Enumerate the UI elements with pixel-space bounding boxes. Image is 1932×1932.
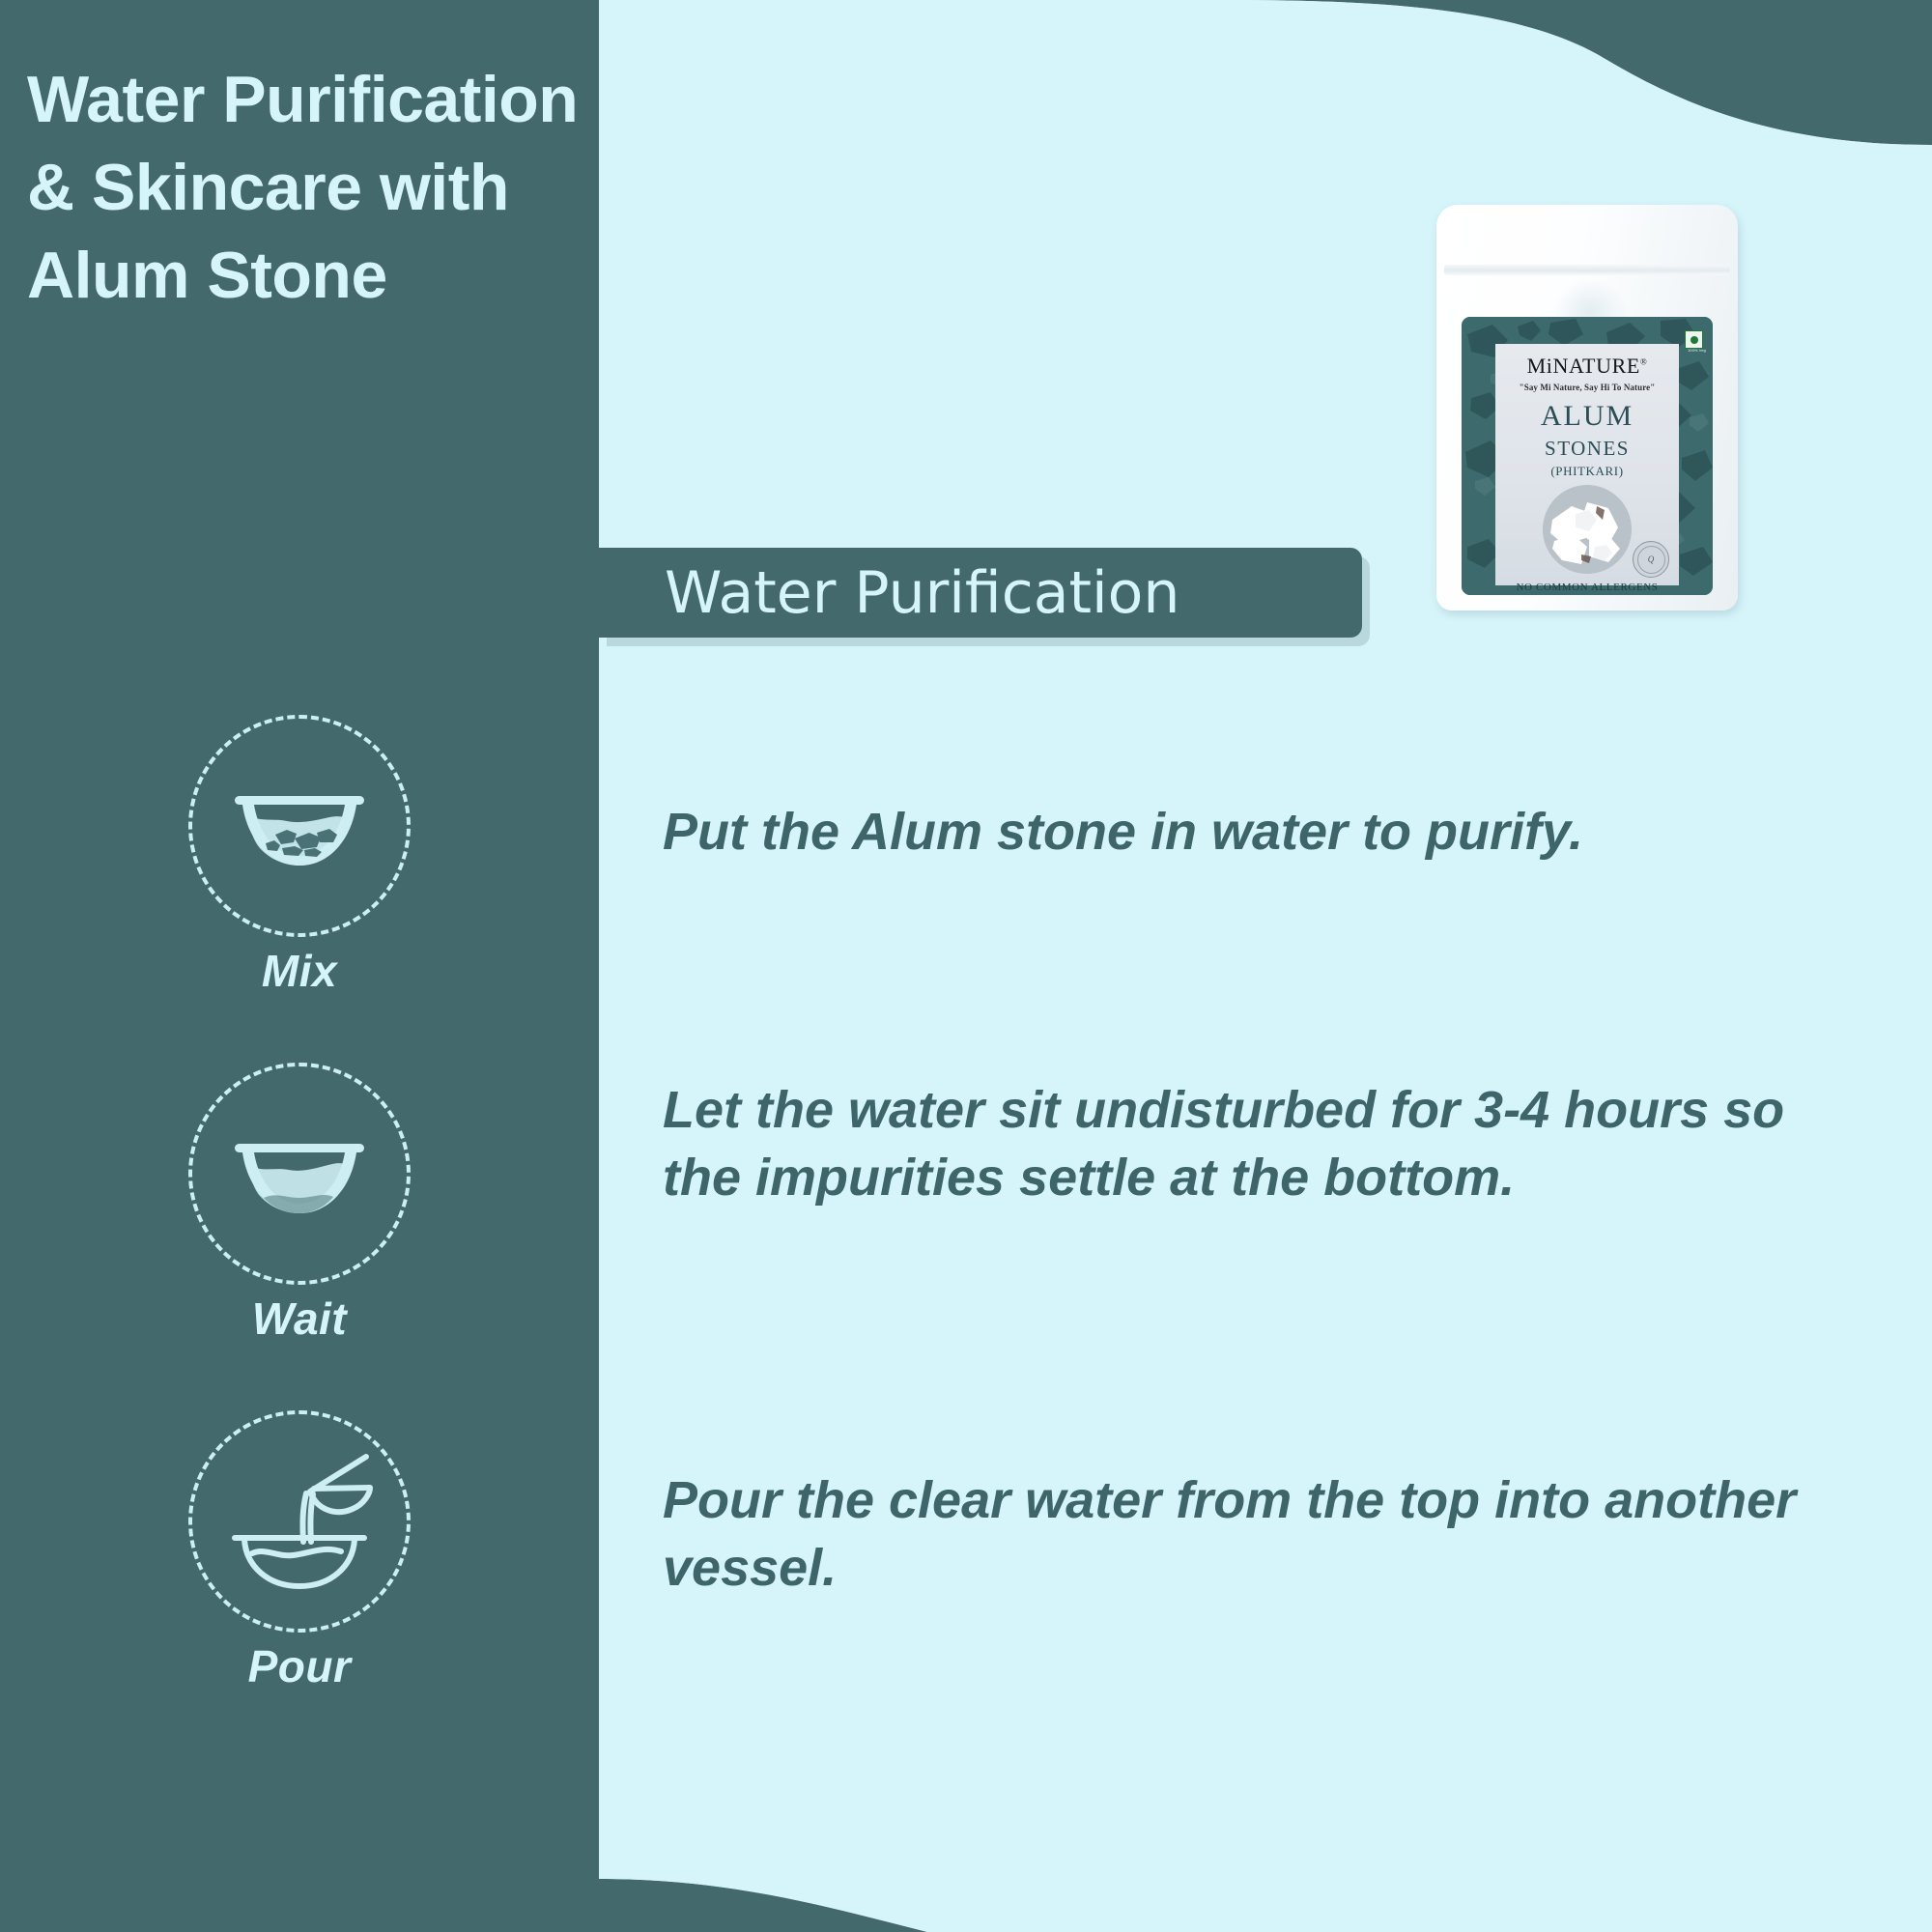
product-package-image: 100% Veg MiNATURE® "Say Mi Nature, Say H… [1436, 205, 1738, 611]
instruction-text-1: Put the Alum stone in water to purify. [663, 798, 1803, 866]
pouch-zipper [1444, 265, 1730, 275]
section-banner: Water Purification [599, 548, 1362, 638]
product-label: 100% Veg MiNATURE® "Say Mi Nature, Say H… [1462, 317, 1713, 595]
bowl-with-stones-icon [188, 715, 411, 937]
veg-mark-caption: 100% Veg [1688, 348, 1706, 353]
section-banner-label: Water Purification [665, 559, 1179, 627]
step-label: Wait [0, 1293, 599, 1345]
page-title: Water Purification & Skincare with Alum … [27, 56, 587, 320]
instruction-text-3: Pour the clear water from the top into a… [663, 1466, 1803, 1602]
quality-seal-inner: Q [1637, 546, 1665, 574]
alum-stones-photo [1543, 485, 1632, 574]
allergen-note: NO COMMON ALLERGENS [1495, 582, 1679, 593]
product-alt-name: (PHITKARI) [1495, 464, 1679, 479]
brand-tagline: "Say Mi Nature, Say Hi To Nature" [1495, 383, 1679, 392]
product-name: ALUM [1495, 400, 1679, 433]
step-mix: Mix [0, 715, 599, 1053]
step-label: Pour [0, 1640, 599, 1692]
vegetarian-mark-icon [1685, 330, 1703, 349]
instruction-text-2: Let the water sit undisturbed for 3-4 ho… [663, 1076, 1803, 1211]
registered-mark-icon: ® [1640, 357, 1647, 367]
step-label: Mix [0, 945, 599, 997]
brand-name: MiNATURE® [1495, 354, 1679, 379]
step-pour: Pour [0, 1410, 599, 1748]
veg-dot [1690, 336, 1698, 344]
pouring-bowl-icon [188, 1410, 411, 1633]
infographic-canvas: Water Purification & Skincare with Alum … [0, 0, 1932, 1932]
product-subtitle: STONES [1495, 437, 1679, 461]
step-wait: Wait [0, 1063, 599, 1401]
brand-text: MiNATURE [1527, 354, 1640, 378]
quality-seal-icon: Q [1633, 541, 1669, 578]
steps-list: Mix Wait [0, 715, 599, 1729]
bowl-settled-water-icon [188, 1063, 411, 1285]
label-info-card: MiNATURE® "Say Mi Nature, Say Hi To Natu… [1495, 344, 1679, 585]
